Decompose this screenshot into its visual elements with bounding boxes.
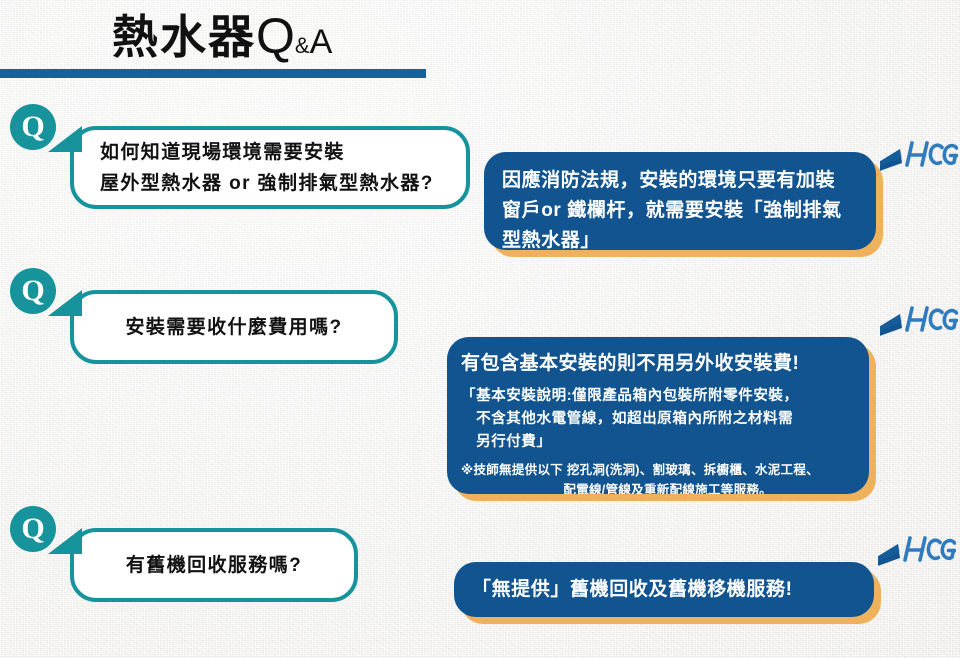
question-text-2: 安裝需要收什麼費用嗎? <box>74 312 394 343</box>
hcg-logo-1 <box>880 139 958 179</box>
page-title-q: Q <box>256 8 295 64</box>
question-bubble-3: 有舊機回收服務嗎? <box>70 528 358 602</box>
answer-bubble-2: 有包含基本安裝的則不用另外收安裝費! 「基本安裝說明:僅限產品箱內包裝所附零件安… <box>447 337 869 494</box>
answer-note-2: ※技師無提供以下 挖孔洞(洗洞)、割玻璃、拆櫥櫃、水泥工程、 配電線/管線及重新… <box>461 460 855 494</box>
question-badge-1: Q <box>10 104 56 150</box>
hcg-logo-2 <box>880 304 958 344</box>
question-bubble-1: 如何知道現場環境需要安裝 屋外型熱水器 or 強制排氣型熱水器? <box>70 126 470 209</box>
answer-text-1: 因應消防法規，安裝的環境只要有加裝 窗戶or 鐵欄杆，就需要安裝「強制排氣 型熱… <box>502 166 858 250</box>
question-bubble-2: 安裝需要收什麼費用嗎? <box>70 290 398 364</box>
answer-bubble-1: 因應消防法規，安裝的環境只要有加裝 窗戶or 鐵欄杆，就需要安裝「強制排氣 型熱… <box>484 152 876 250</box>
answer-heading-2: 有包含基本安裝的則不用另外收安裝費! <box>461 349 855 379</box>
page-title-ampersand: & <box>295 33 310 58</box>
header-divider-rule <box>0 69 426 78</box>
answer-subtext-2: 「基本安裝說明:僅限產品箱內包裝所附零件安裝， 不含其他水電管線，如超出原箱內所… <box>461 385 855 454</box>
hcg-logo-3 <box>878 534 956 574</box>
question-badge-3: Q <box>10 506 56 552</box>
page-title-cjk: 熱水器 <box>112 11 256 63</box>
question-badge-2: Q <box>10 268 56 314</box>
page-canvas: 熱水器Q&A Q 如何知道現場環境需要安裝 屋外型熱水器 or 強制排氣型熱水器… <box>0 0 960 658</box>
question-text-3: 有舊機回收服務嗎? <box>74 550 354 581</box>
page-title: 熱水器Q&A <box>112 7 332 75</box>
answer-bubble-3: 「無提供」舊機回收及舊機移機服務! <box>454 562 874 617</box>
page-title-a: A <box>310 23 333 61</box>
answer-text-3: 「無提供」舊機回收及舊機移機服務! <box>472 575 793 605</box>
question-text-1: 如何知道現場環境需要安裝 屋外型熱水器 or 強制排氣型熱水器? <box>74 137 466 199</box>
